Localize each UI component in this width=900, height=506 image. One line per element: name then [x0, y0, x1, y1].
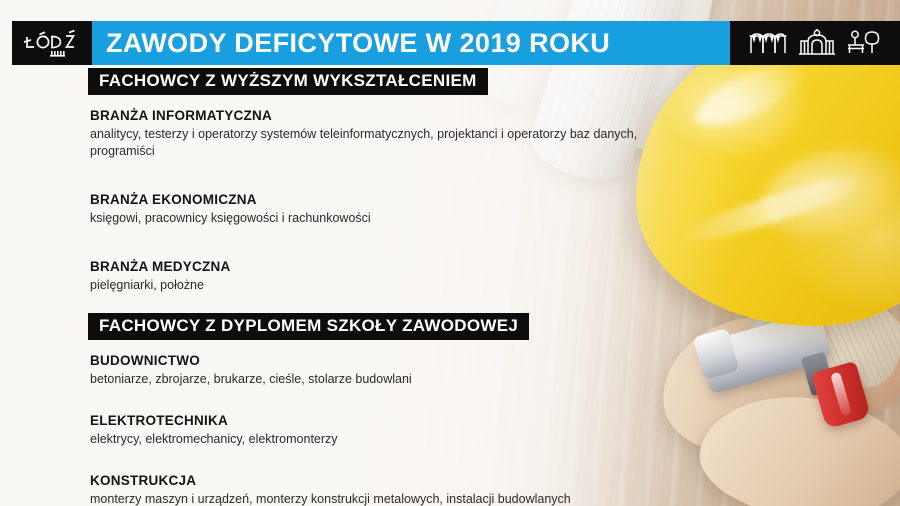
- entry-description: monterzy maszyn i urządzeń, monterzy kon…: [90, 491, 670, 506]
- section-heading: FACHOWCY Z DYPLOMEM SZKOŁY ZAWODOWEJ: [88, 313, 529, 340]
- park-bench-tree-icon[interactable]: [846, 29, 882, 57]
- entry-description: pielęgniarki, położne: [90, 277, 670, 295]
- entry-construction: BUDOWNICTWO betoniarze, zbrojarze, bruka…: [90, 353, 900, 389]
- spacer: [0, 161, 900, 179]
- entry-description: analitycy, testerzy i operatorzy systemó…: [90, 126, 670, 162]
- section-spacer: [0, 295, 900, 313]
- section-heading: FACHOWCY Z WYŻSZYM WYKSZTAŁCENIEM: [88, 68, 488, 95]
- entry-description: księgowi, pracownicy księgowości i rachu…: [90, 210, 670, 228]
- landmark-icon-bar: [730, 21, 900, 65]
- title-banner: ZAWODY DEFICYTOWE W 2019 ROKU: [92, 21, 730, 65]
- entry-title: ELEKTROTECHNIKA: [90, 413, 900, 429]
- entry-title: KONSTRUKCJA: [90, 473, 900, 489]
- entry-electrotechnics: ELEKTROTECHNIKA elektrycy, elektromechan…: [90, 413, 900, 449]
- city-gate-landmark-icon[interactable]: [797, 29, 837, 57]
- page-title: ZAWODY DEFICYTOWE W 2019 ROKU: [106, 30, 610, 57]
- entry-it-branch: BRANŻA INFORMATYCZNA analitycy, testerzy…: [90, 108, 900, 162]
- entry-title: BRANŻA MEDYCZNA: [90, 259, 900, 275]
- entry-description: betoniarze, zbrojarze, brukarze, cieśle,…: [90, 371, 670, 389]
- spacer: [0, 389, 900, 401]
- spacer: [0, 449, 900, 461]
- entry-metal-structures: KONSTRUKCJA monterzy maszyn i urządzeń, …: [90, 473, 900, 506]
- spacer: [0, 228, 900, 246]
- content-area: FACHOWCY Z WYŻSZYM WYKSZTAŁCENIEM BRANŻA…: [0, 68, 900, 506]
- entry-economic-branch: BRANŻA EKONOMICZNA księgowi, pracownicy …: [90, 192, 900, 228]
- manufaktura-arches-icon[interactable]: [748, 30, 788, 56]
- entry-medical-branch: BRANŻA MEDYCZNA pielęgniarki, położne: [90, 259, 900, 295]
- header-bar: ZAWODY DEFICYTOWE W 2019 ROKU: [0, 21, 900, 65]
- section-vocational-diploma: FACHOWCY Z DYPLOMEM SZKOŁY ZAWODOWEJ BUD…: [0, 313, 900, 506]
- entry-description: elektrycy, elektromechanicy, elektromont…: [90, 431, 670, 449]
- lodz-logo[interactable]: [12, 21, 92, 65]
- section-higher-education: FACHOWCY Z WYŻSZYM WYKSZTAŁCENIEM BRANŻA…: [0, 68, 900, 295]
- entry-title: BRANŻA EKONOMICZNA: [90, 192, 900, 208]
- entry-title: BRANŻA INFORMATYCZNA: [90, 108, 900, 124]
- entry-title: BUDOWNICTWO: [90, 353, 900, 369]
- lodz-wordmark-icon: [21, 28, 83, 58]
- infographic-root: ZAWODY DEFICYTOWE W 2019 ROKU: [0, 0, 900, 506]
